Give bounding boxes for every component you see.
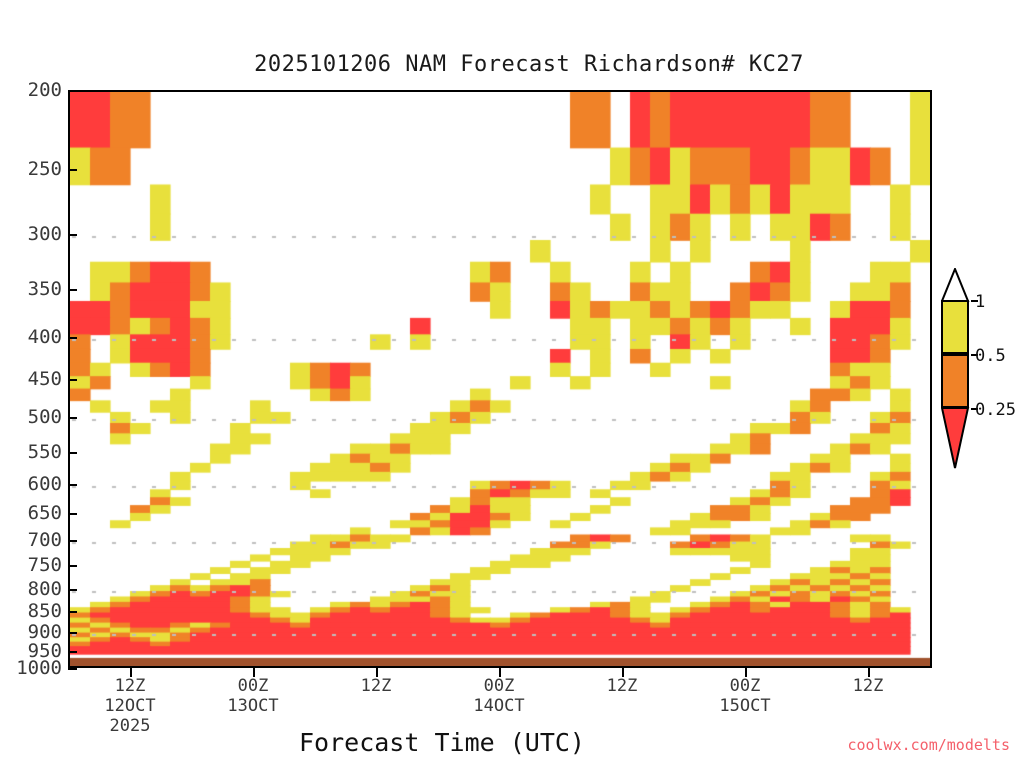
y-axis-tick-mark bbox=[68, 337, 77, 339]
y-axis-tick-label: 200 bbox=[28, 79, 62, 101]
chart-page: 2025101206 NAM Forecast Richardson# KC27… bbox=[0, 0, 1024, 768]
colorbar-arrow-up-icon bbox=[941, 268, 971, 302]
y-axis-tick-label: 550 bbox=[28, 441, 62, 463]
y-axis-tick-mark bbox=[68, 611, 77, 613]
y-axis-tick-label: 500 bbox=[28, 406, 62, 428]
y-axis-tick-label: 600 bbox=[28, 473, 62, 495]
x-axis-tick-mark bbox=[130, 668, 132, 677]
y-axis-tick-label: 250 bbox=[28, 158, 62, 180]
colorbar-label-0.5: 0.5 bbox=[975, 346, 1006, 366]
y-axis-tick-mark bbox=[68, 417, 77, 419]
y-axis-tick-label: 800 bbox=[28, 578, 62, 600]
y-axis-tick-label: 350 bbox=[28, 278, 62, 300]
y-axis-tick-label: 850 bbox=[28, 600, 62, 622]
colorbar-band-yellow bbox=[941, 300, 969, 354]
y-axis-tick-mark bbox=[68, 668, 77, 670]
y-axis-tick-mark bbox=[68, 651, 77, 653]
x-axis-tick-label: 00Z14OCT bbox=[473, 676, 524, 716]
y-axis-tick-mark bbox=[68, 513, 77, 515]
y-axis-tick-mark bbox=[68, 484, 77, 486]
x-axis-tick-mark bbox=[745, 668, 747, 677]
y-axis-tick-label: 750 bbox=[28, 554, 62, 576]
colorbar-label-0.25: 0.25 bbox=[975, 400, 1016, 420]
y-axis-tick-mark bbox=[68, 565, 77, 567]
y-axis-tick-mark bbox=[68, 289, 77, 291]
colorbar-legend[interactable]: 1 0.5 0.25 bbox=[941, 300, 971, 460]
y-axis-tick-mark bbox=[68, 90, 77, 92]
y-axis-tick-mark bbox=[68, 169, 77, 171]
x-axis-tick-mark bbox=[499, 668, 501, 677]
y-axis-tick-mark bbox=[68, 589, 77, 591]
x-axis-tick-mark bbox=[622, 668, 624, 677]
x-axis-tick-label: 00Z13OCT bbox=[227, 676, 278, 716]
x-axis-tick-label: 12Z bbox=[361, 676, 392, 696]
y-axis-tick-label: 400 bbox=[28, 326, 62, 348]
y-axis-tick-mark bbox=[68, 234, 77, 236]
x-axis-tick-mark bbox=[376, 668, 378, 677]
y-axis-tick-label: 700 bbox=[28, 529, 62, 551]
watermark: coolwx.com/modelts bbox=[847, 736, 1010, 754]
y-axis-tick-label: 450 bbox=[28, 368, 62, 390]
colorbar-label-1: 1 bbox=[975, 292, 985, 312]
plot-area[interactable] bbox=[68, 90, 932, 668]
y-axis-tick-mark bbox=[68, 379, 77, 381]
x-axis-tick-mark bbox=[868, 668, 870, 677]
y-axis-labels: 2002503003504004505005506006507007508008… bbox=[0, 0, 62, 768]
colorbar-band-orange bbox=[941, 354, 969, 408]
y-axis-tick-label: 650 bbox=[28, 502, 62, 524]
y-axis-tick-mark bbox=[68, 540, 77, 542]
y-axis-tick-label: 300 bbox=[28, 223, 62, 245]
heatmap-canvas bbox=[70, 92, 930, 666]
x-axis-tick-label: 12Z bbox=[607, 676, 638, 696]
y-axis-tick-mark bbox=[68, 632, 77, 634]
x-axis-tick-mark bbox=[253, 668, 255, 677]
x-axis-tick-label: 12Z bbox=[853, 676, 884, 696]
colorbar-arrow-down-icon bbox=[941, 406, 971, 470]
x-axis-tick-label: 12Z12OCT2025 bbox=[104, 676, 155, 736]
y-axis-tick-mark bbox=[68, 452, 77, 454]
x-axis-tick-label: 00Z15OCT bbox=[719, 676, 770, 716]
chart-title: 2025101206 NAM Forecast Richardson# KC27 bbox=[0, 52, 1024, 77]
